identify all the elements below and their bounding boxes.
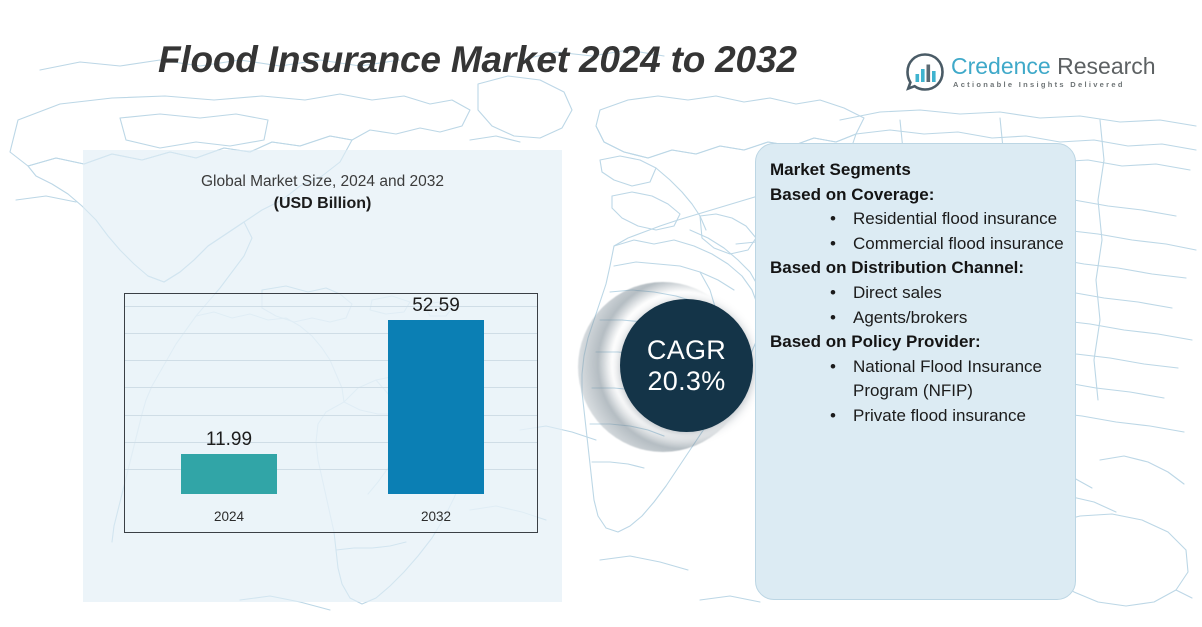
logo-name-credence: Credence bbox=[951, 53, 1051, 79]
segment-item[interactable]: •Agents/brokers bbox=[770, 306, 1065, 331]
segment-item-label: Private flood insurance bbox=[853, 406, 1026, 425]
market-segments-panel: Market Segments Based on Coverage:•Resid… bbox=[755, 143, 1076, 600]
bar-2024 bbox=[181, 454, 277, 494]
bar-value-label-2032: 52.59 bbox=[358, 295, 514, 317]
segment-heading-0: Based on Coverage: bbox=[770, 183, 1065, 208]
logo-tagline: Actionable Insights Delivered bbox=[953, 80, 1125, 89]
segment-list-2: •National Flood Insurance Program (NFIP)… bbox=[770, 355, 1065, 429]
chart-subtitle-line1: Global Market Size, 2024 and 2032 bbox=[83, 171, 562, 192]
segment-list-0: •Residential flood insurance•Commercial … bbox=[770, 207, 1065, 256]
segment-item-label: Agents/brokers bbox=[853, 308, 967, 327]
segment-heading-1: Based on Distribution Channel: bbox=[770, 256, 1065, 281]
page-title: Flood Insurance Market 2024 to 2032 bbox=[158, 38, 797, 82]
segment-item[interactable]: •National Flood Insurance Program (NFIP) bbox=[770, 355, 1065, 404]
bullet-icon: • bbox=[830, 355, 836, 380]
bullet-icon: • bbox=[830, 281, 836, 306]
logo-wordmark: Credence Research bbox=[951, 53, 1156, 79]
segment-list-1: •Direct sales•Agents/brokers bbox=[770, 281, 1065, 330]
brand-logo[interactable]: Credence Research Actionable Insights De… bbox=[905, 50, 1100, 98]
segments-title: Market Segments bbox=[770, 158, 1065, 183]
segment-heading-2: Based on Policy Provider: bbox=[770, 330, 1065, 355]
category-label-2024: 2024 bbox=[151, 509, 307, 524]
chart-subtitle-line2: (USD Billion) bbox=[83, 192, 562, 215]
bar-value-label-2024: 11.99 bbox=[151, 429, 307, 451]
segment-item[interactable]: •Commercial flood insurance bbox=[770, 232, 1065, 257]
category-label-2032: 2032 bbox=[358, 509, 514, 524]
logo-name-research: Research bbox=[1051, 53, 1156, 79]
bar-2032 bbox=[388, 320, 484, 494]
cagr-circle: CAGR 20.3% bbox=[620, 299, 753, 432]
segment-item[interactable]: •Direct sales bbox=[770, 281, 1065, 306]
cagr-label: CAGR bbox=[647, 335, 726, 366]
bullet-icon: • bbox=[830, 306, 836, 331]
bullet-icon: • bbox=[830, 207, 836, 232]
bullet-icon: • bbox=[830, 232, 836, 257]
segment-item[interactable]: •Residential flood insurance bbox=[770, 207, 1065, 232]
segment-item-label: National Flood Insurance Program (NFIP) bbox=[853, 357, 1042, 401]
segment-item[interactable]: •Private flood insurance bbox=[770, 404, 1065, 429]
chart-heading: Global Market Size, 2024 and 2032 (USD B… bbox=[83, 171, 562, 215]
cagr-value: 20.3% bbox=[647, 366, 725, 397]
segment-item-label: Direct sales bbox=[853, 283, 942, 302]
bar-chart-bubble-icon bbox=[905, 52, 945, 92]
segments-body: Based on Coverage:•Residential flood ins… bbox=[770, 183, 1065, 429]
segment-item-label: Residential flood insurance bbox=[853, 209, 1057, 228]
infographic-root: Flood Insurance Market 2024 to 2032 Cred… bbox=[0, 0, 1202, 627]
bar-chart: 11.99202452.592032 bbox=[124, 293, 538, 533]
bullet-icon: • bbox=[830, 404, 836, 429]
segment-item-label: Commercial flood insurance bbox=[853, 234, 1064, 253]
